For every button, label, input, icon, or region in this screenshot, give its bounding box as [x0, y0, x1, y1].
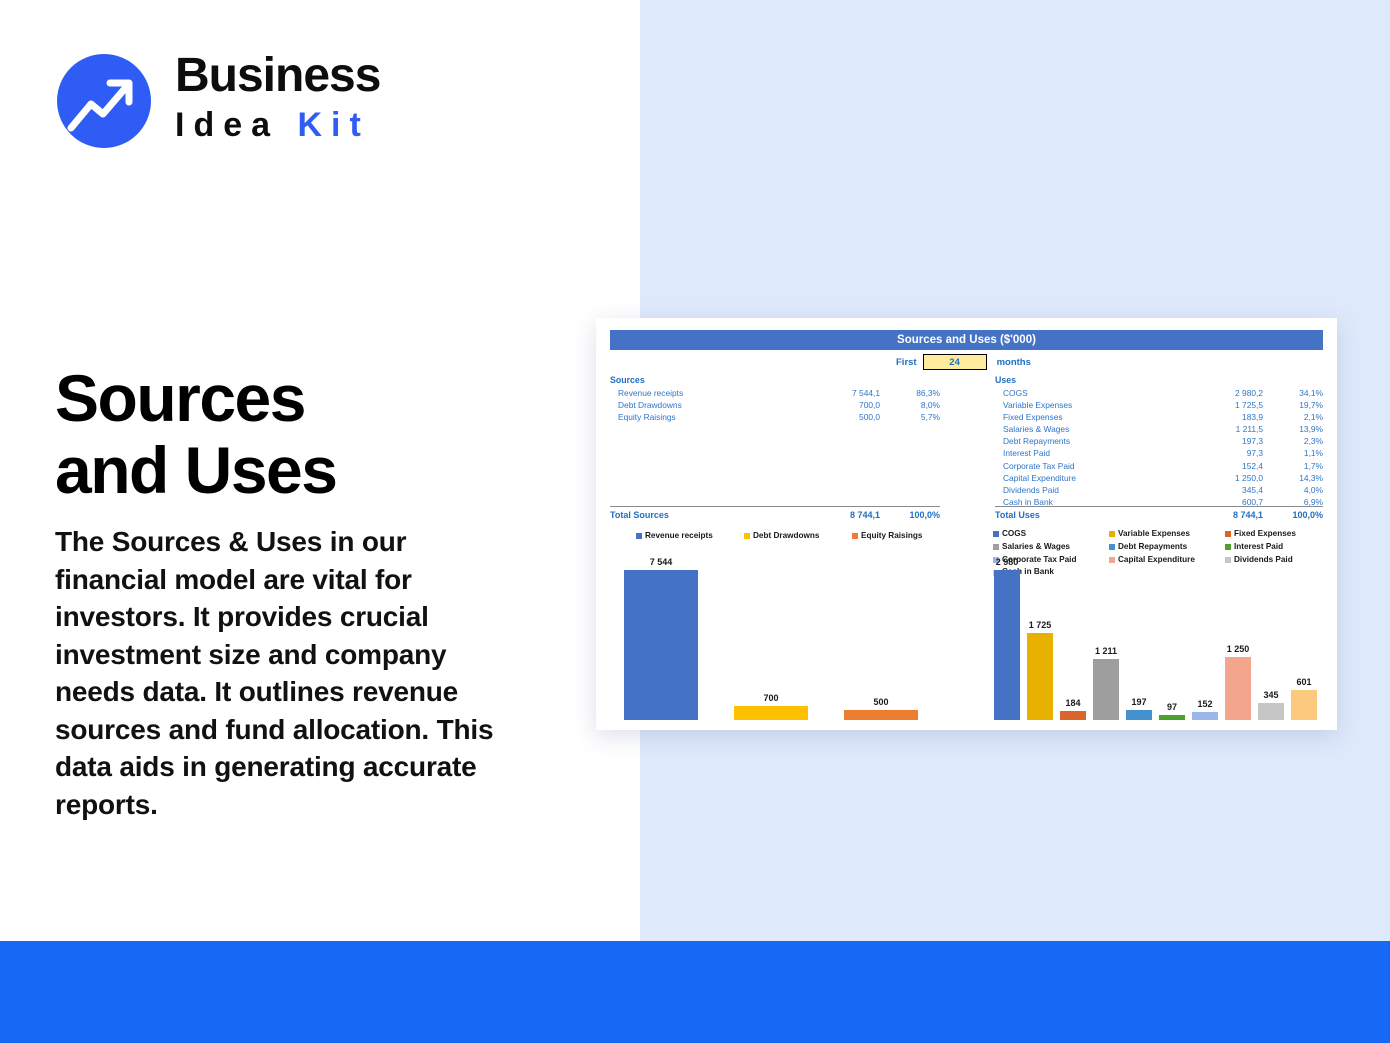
sources-bar-label: 700 — [763, 693, 778, 703]
uses-item-pct: 2,1% — [1263, 411, 1323, 423]
uses-item-label: Fixed Expenses — [995, 411, 1189, 423]
uses-total-label: Total Uses — [995, 510, 1189, 520]
legend-swatch-icon — [744, 533, 750, 539]
uses-bar-label: 1 250 — [1227, 644, 1250, 654]
page-description: The Sources & Uses in our financial mode… — [55, 523, 505, 823]
uses-bar-label: 152 — [1197, 699, 1212, 709]
sources-total-pct: 100,0% — [880, 510, 940, 520]
uses-bar-label: 184 — [1065, 698, 1080, 708]
uses-item-pct: 13,9% — [1263, 423, 1323, 435]
uses-bar[interactable] — [1291, 690, 1317, 720]
uses-rows: COGS2 980,234,1%Variable Expenses1 725,5… — [995, 387, 1323, 508]
page-title: Sourcesand Uses — [55, 362, 575, 506]
sources-item-value: 700,0 — [806, 399, 880, 411]
uses-item-value: 183,9 — [1189, 411, 1263, 423]
sources-legend-label: Debt Drawdowns — [753, 530, 819, 543]
sources-item-value: 500,0 — [806, 411, 880, 423]
uses-item-label: Variable Expenses — [995, 399, 1189, 411]
sources-legend-item[interactable]: Revenue receipts — [636, 530, 734, 543]
uses-legend-item[interactable]: Fixed Expenses — [1225, 528, 1331, 541]
sources-bar-group: 7 544 — [624, 557, 698, 720]
uses-bar-group: 152 — [1192, 699, 1218, 720]
uses-item-value: 345,4 — [1189, 484, 1263, 496]
uses-item-pct: 14,3% — [1263, 472, 1323, 484]
sources-item-value: 7 544,1 — [806, 387, 880, 399]
uses-item-row: Interest Paid97,31,1% — [995, 447, 1323, 459]
legend-swatch-icon — [1109, 531, 1115, 537]
sources-item-row: Debt Drawdowns700,08,0% — [610, 399, 940, 411]
uses-item-label: Capital Expenditure — [995, 472, 1189, 484]
legend-swatch-icon — [1225, 544, 1231, 550]
legend-swatch-icon — [993, 544, 999, 550]
brand-name-secondary: Idea Kit — [175, 104, 505, 146]
uses-bar[interactable] — [1060, 711, 1086, 720]
background-bar-bottom — [0, 941, 1390, 1043]
uses-item-value: 152,4 — [1189, 460, 1263, 472]
uses-legend-label: COGS — [1002, 528, 1026, 541]
uses-item-row: Variable Expenses1 725,519,7% — [995, 399, 1323, 411]
uses-item-row: Corporate Tax Paid152,41,7% — [995, 460, 1323, 472]
sources-item-label: Equity Raisings — [610, 411, 806, 423]
uses-item-pct: 19,7% — [1263, 399, 1323, 411]
uses-legend-row: COGSVariable ExpensesFixed Expenses — [993, 528, 1341, 541]
uses-bar-group: 184 — [1060, 698, 1086, 720]
uses-item-pct: 1,1% — [1263, 447, 1323, 459]
uses-total-pct: 100,0% — [1263, 510, 1323, 520]
sources-bar[interactable] — [624, 570, 698, 720]
uses-table: Uses COGS2 980,234,1%Variable Expenses1 … — [995, 375, 1323, 508]
uses-bar[interactable] — [1093, 659, 1119, 720]
legend-swatch-icon — [1109, 544, 1115, 550]
uses-bar[interactable] — [1192, 712, 1218, 720]
uses-item-value: 97,3 — [1189, 447, 1263, 459]
uses-bar[interactable] — [1159, 715, 1185, 720]
months-row: First 24 months — [610, 354, 1323, 370]
sources-item-pct: 86,3% — [880, 387, 940, 399]
brand-name-kit: Kit — [297, 106, 369, 144]
legend-swatch-icon — [636, 533, 642, 539]
sources-bar-label: 500 — [873, 697, 888, 707]
sources-total-row: Total Sources 8 744,1 100,0% — [610, 506, 940, 520]
sources-item-pct: 8,0% — [880, 399, 940, 411]
uses-item-value: 2 980,2 — [1189, 387, 1263, 399]
uses-item-label: COGS — [995, 387, 1189, 399]
months-prefix-label: First — [896, 357, 917, 368]
sources-legend-label: Equity Raisings — [861, 530, 922, 543]
legend-swatch-icon — [993, 531, 999, 537]
sources-rows: Revenue receipts7 544,186,3%Debt Drawdow… — [610, 387, 940, 423]
sources-legend-row: Revenue receiptsDebt DrawdownsEquity Rai… — [636, 530, 960, 543]
sources-item-row: Equity Raisings500,05,7% — [610, 411, 940, 423]
brand-name-primary: Business — [175, 48, 505, 104]
sources-bar-label: 7 544 — [650, 557, 673, 567]
uses-bar[interactable] — [1258, 703, 1284, 720]
uses-bar-chart: 2 9801 7251841 211197971521 250345601 — [988, 552, 1326, 720]
uses-item-label: Debt Repayments — [995, 435, 1189, 447]
uses-bar[interactable] — [1225, 657, 1251, 720]
uses-legend-label: Variable Expenses — [1118, 528, 1190, 541]
uses-bar-group: 97 — [1159, 702, 1185, 720]
uses-bar-group: 2 980 — [994, 557, 1020, 720]
uses-bar-label: 2 980 — [996, 557, 1019, 567]
uses-bar-group: 1 211 — [1093, 646, 1119, 720]
uses-item-value: 1 725,5 — [1189, 399, 1263, 411]
uses-item-pct: 4,0% — [1263, 484, 1323, 496]
uses-bar-group: 345 — [1258, 690, 1284, 720]
sources-bar-group: 500 — [844, 697, 918, 720]
uses-bar-group: 601 — [1291, 677, 1317, 720]
uses-bar-group: 1 250 — [1225, 644, 1251, 720]
uses-bar-label: 345 — [1263, 690, 1278, 700]
uses-bar-label: 97 — [1167, 702, 1177, 712]
uses-bar-label: 601 — [1296, 677, 1311, 687]
uses-item-row: Capital Expenditure1 250,014,3% — [995, 472, 1323, 484]
sources-bar-group: 700 — [734, 693, 808, 720]
report-card: Sources and Uses ($'000) First 24 months… — [596, 318, 1337, 730]
uses-legend-item[interactable]: COGS — [993, 528, 1099, 541]
uses-item-pct: 1,7% — [1263, 460, 1323, 472]
uses-item-pct: 34,1% — [1263, 387, 1323, 399]
sources-bar[interactable] — [734, 706, 808, 720]
uses-item-row: Salaries & Wages1 211,513,9% — [995, 423, 1323, 435]
brand-logo: Business Idea Kit — [55, 48, 455, 158]
uses-item-row: Debt Repayments197,32,3% — [995, 435, 1323, 447]
sources-legend-item[interactable]: Equity Raisings — [852, 530, 950, 543]
uses-bar-group: 1 725 — [1027, 620, 1053, 720]
sources-legend-label: Revenue receipts — [645, 530, 713, 543]
uses-legend-item[interactable]: Variable Expenses — [1109, 528, 1215, 541]
legend-swatch-icon — [1225, 531, 1231, 537]
uses-item-pct: 2,3% — [1263, 435, 1323, 447]
sources-item-row: Revenue receipts7 544,186,3% — [610, 387, 940, 399]
uses-header: Uses — [995, 375, 1323, 385]
uses-item-value: 1 250,0 — [1189, 472, 1263, 484]
growth-arrow-icon — [55, 52, 153, 150]
uses-item-label: Interest Paid — [995, 447, 1189, 459]
sources-total-value: 8 744,1 — [806, 510, 880, 520]
report-title: Sources and Uses ($'000) — [610, 330, 1323, 350]
uses-item-label: Dividends Paid — [995, 484, 1189, 496]
uses-item-row: COGS2 980,234,1% — [995, 387, 1323, 399]
months-suffix-label: months — [997, 357, 1031, 368]
sources-item-pct: 5,7% — [880, 411, 940, 423]
uses-item-label: Corporate Tax Paid — [995, 460, 1189, 472]
sources-table: Sources Revenue receipts7 544,186,3%Debt… — [610, 375, 940, 423]
uses-bar-group: 197 — [1126, 697, 1152, 720]
uses-total-row: Total Uses 8 744,1 100,0% — [995, 506, 1323, 520]
uses-item-value: 1 211,5 — [1189, 423, 1263, 435]
uses-item-value: 197,3 — [1189, 435, 1263, 447]
uses-bar-label: 1 725 — [1029, 620, 1052, 630]
months-input[interactable]: 24 — [923, 354, 987, 370]
sources-bar[interactable] — [844, 710, 918, 720]
sources-chart-legend: Revenue receiptsDebt DrawdownsEquity Rai… — [636, 530, 960, 543]
uses-total-value: 8 744,1 — [1189, 510, 1263, 520]
uses-bar-label: 1 211 — [1095, 646, 1117, 656]
uses-bar[interactable] — [994, 570, 1020, 720]
uses-bar[interactable] — [1027, 633, 1053, 720]
sources-bar-chart: 7 544700500 — [620, 552, 932, 720]
uses-bar-label: 197 — [1131, 697, 1146, 707]
sources-item-label: Debt Drawdowns — [610, 399, 806, 411]
sources-total-label: Total Sources — [610, 510, 806, 520]
uses-item-row: Fixed Expenses183,92,1% — [995, 411, 1323, 423]
legend-swatch-icon — [852, 533, 858, 539]
sources-legend-item[interactable]: Debt Drawdowns — [744, 530, 842, 543]
uses-legend-label: Fixed Expenses — [1234, 528, 1296, 541]
uses-item-row: Dividends Paid345,44,0% — [995, 484, 1323, 496]
uses-bar[interactable] — [1126, 710, 1152, 720]
brand-name-idea: Idea — [175, 106, 297, 144]
uses-item-label: Salaries & Wages — [995, 423, 1189, 435]
sources-header: Sources — [610, 375, 940, 385]
sources-item-label: Revenue receipts — [610, 387, 806, 399]
